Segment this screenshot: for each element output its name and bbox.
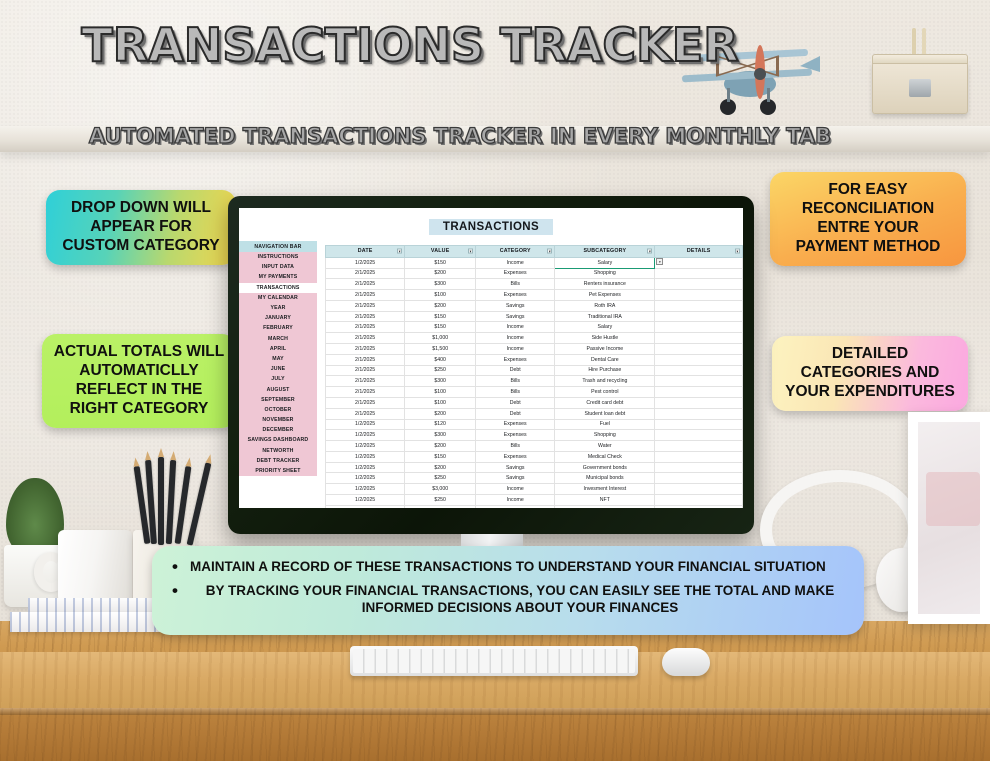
callout-detailed-categories: DETAILED CATEGORIES AND YOUR EXPENDITURE… xyxy=(772,336,968,411)
table-row[interactable]: 1/2/2025$150ExpensesMedical Check xyxy=(326,451,743,462)
cell-details[interactable] xyxy=(655,333,743,344)
cell-subcategory[interactable]: Roth IRA xyxy=(555,300,655,311)
cell-subcategory[interactable]: Municipal bonds xyxy=(555,473,655,484)
table-row[interactable]: 2/1/2025$250DebtHire Purchase xyxy=(326,365,743,376)
cell-category[interactable]: Income xyxy=(476,333,555,344)
cell-category[interactable]: Bills xyxy=(476,387,555,398)
table-row[interactable]: 1/2/2025$120ExpensesFuel xyxy=(326,419,743,430)
cell-date[interactable]: 2/1/2025 xyxy=(326,354,405,365)
table-row[interactable]: 2/1/2025$200SavingsRoth IRA xyxy=(326,300,743,311)
nav-item-priority-sheet[interactable]: PRIORITY SHEET xyxy=(239,466,317,476)
nav-item-savings-dashboard[interactable]: SAVINGS DASHBOARD xyxy=(239,435,317,445)
nav-item-transactions[interactable]: TRANSACTIONS xyxy=(239,283,317,293)
cell-subcategory[interactable]: Passive Income xyxy=(555,344,655,355)
cell-category[interactable]: Expenses xyxy=(476,268,555,279)
cell-date[interactable]: 2/1/2025 xyxy=(326,290,405,301)
cell-category[interactable]: Income xyxy=(476,494,555,505)
cell-subcategory[interactable]: Water xyxy=(555,441,655,452)
sheet-body: NAVIGATION BAR INSTRUCTIONSINPUT DATAMY … xyxy=(239,241,743,508)
cell-category[interactable]: Debt xyxy=(476,408,555,419)
navigation-bar-list[interactable]: INSTRUCTIONSINPUT DATAMY PAYMENTSTRANSAC… xyxy=(239,252,317,476)
table-row[interactable]: 2/1/2025$100BillsPest control xyxy=(326,387,743,398)
cell-details[interactable] xyxy=(655,279,743,290)
cell-subcategory[interactable]: Traditional IRA xyxy=(555,311,655,322)
cell-details[interactable] xyxy=(655,344,743,355)
cell-details[interactable] xyxy=(655,290,743,301)
nav-item-networth[interactable]: NETWORTH xyxy=(239,446,317,456)
nav-item-september[interactable]: SEPTEMBER xyxy=(239,395,317,405)
navigation-bar: NAVIGATION BAR INSTRUCTIONSINPUT DATAMY … xyxy=(239,241,317,508)
nav-item-april[interactable]: APRIL xyxy=(239,344,317,354)
cell-category[interactable]: Savings xyxy=(476,311,555,322)
cell-category[interactable]: Savings xyxy=(476,473,555,484)
cell-details[interactable] xyxy=(655,365,743,376)
cell-details[interactable] xyxy=(655,473,743,484)
nav-item-may[interactable]: MAY xyxy=(239,354,317,364)
table-row[interactable]: 1/2/2025$150IncomeSalary▾ xyxy=(326,257,743,268)
table-header-row: DATE ▾ VALUE ▾ CATEGORY ▾ xyxy=(326,246,743,258)
bullet-item: MAINTAIN A RECORD OF THESE TRANSACTIONS … xyxy=(166,559,850,575)
callout-actual-totals: ACTUAL TOTALS WILL AUTOMATICLLY REFLECT … xyxy=(42,334,236,428)
table-row[interactable]: 1/2/2025$250SavingsMunicipal bonds xyxy=(326,473,743,484)
table-row[interactable]: 2/1/2025$400ExpensesDental Care xyxy=(326,354,743,365)
cell-value[interactable]: $150 xyxy=(405,257,476,268)
cell-details[interactable] xyxy=(655,354,743,365)
nav-item-my-payments[interactable]: MY PAYMENTS xyxy=(239,272,317,282)
cell-date[interactable]: 1/2/2025 xyxy=(326,484,405,495)
dropdown-arrow-icon[interactable]: ▾ xyxy=(656,258,663,265)
nav-item-january[interactable]: JANUARY xyxy=(239,313,317,323)
column-header-category[interactable]: CATEGORY ▾ xyxy=(476,246,555,258)
cell-date[interactable]: 1/2/2025 xyxy=(326,419,405,430)
sheet-title-wrap: TRANSACTIONS xyxy=(239,208,743,241)
mouse[interactable] xyxy=(662,648,710,676)
cell-date[interactable]: 2/1/2025 xyxy=(326,376,405,387)
cell-value[interactable]: $250 xyxy=(405,473,476,484)
callout-bottom-bullets: MAINTAIN A RECORD OF THESE TRANSACTIONS … xyxy=(152,546,864,635)
column-header-value[interactable]: VALUE ▾ xyxy=(405,246,476,258)
cell-category[interactable]: Income xyxy=(476,505,555,508)
cell-value[interactable]: $150 xyxy=(405,311,476,322)
table-row[interactable]: 1/2/2025$200SavingsGovernment bonds xyxy=(326,462,743,473)
cell-category[interactable]: Expenses xyxy=(476,451,555,462)
cell-subcategory[interactable]: Dental Care xyxy=(555,354,655,365)
table-row[interactable]: 2/1/2025$100ExpensesPet Expenses xyxy=(326,290,743,301)
cell-value[interactable]: $150 xyxy=(405,322,476,333)
column-header-subcategory-label: SUBCATEGORY xyxy=(583,248,626,254)
nav-item-february[interactable]: FEBRUARY xyxy=(239,323,317,333)
nav-item-input-data[interactable]: INPUT DATA xyxy=(239,262,317,272)
cell-value[interactable]: $400 xyxy=(405,354,476,365)
cell-date[interactable]: 2/1/2025 xyxy=(326,365,405,376)
cell-subcategory[interactable]: Side Hustle xyxy=(555,333,655,344)
keyboard-keys xyxy=(353,649,635,673)
cell-subcategory[interactable]: Government bonds xyxy=(555,462,655,473)
cell-date[interactable]: 2/1/2025 xyxy=(326,408,405,419)
cell-value[interactable]: $200 xyxy=(405,268,476,279)
cell-date[interactable]: 1/2/2025 xyxy=(326,505,405,508)
cell-category[interactable]: Debt xyxy=(476,365,555,376)
pencil-icon xyxy=(158,457,164,545)
cell-subcategory[interactable]: Medical Check xyxy=(555,451,655,462)
cell-subcategory[interactable]: Capital gains xyxy=(555,505,655,508)
cell-subcategory[interactable]: NFT xyxy=(555,494,655,505)
table-row[interactable]: 1/2/2025$3,000IncomeInvesment Interest xyxy=(326,484,743,495)
table-row[interactable]: 2/1/2025$300BillsRenters insurance xyxy=(326,279,743,290)
cell-date[interactable]: 2/1/2025 xyxy=(326,300,405,311)
cell-details[interactable] xyxy=(655,484,743,495)
picture-frame-art xyxy=(918,422,980,614)
table-row[interactable]: 2/1/2025$150SavingsTraditional IRA xyxy=(326,311,743,322)
cell-subcategory[interactable]: Pest control xyxy=(555,387,655,398)
cell-value[interactable]: $100 xyxy=(405,397,476,408)
cell-value[interactable]: $300 xyxy=(405,430,476,441)
cell-details[interactable] xyxy=(655,494,743,505)
cell-details[interactable] xyxy=(655,408,743,419)
nav-item-debt-tracker[interactable]: DEBT TRACKER xyxy=(239,456,317,466)
cell-subcategory[interactable]: Trash and recycling xyxy=(555,376,655,387)
cell-value[interactable]: $100 xyxy=(405,290,476,301)
page-title: TRANSACTIONS TRACKER xyxy=(0,18,820,72)
cell-subcategory[interactable]: Shopping xyxy=(555,430,655,441)
cell-value[interactable]: $1,000 xyxy=(405,333,476,344)
table-row[interactable]: 2/1/2025$1,500IncomePassive Income xyxy=(326,344,743,355)
cell-value[interactable]: $250 xyxy=(405,365,476,376)
column-header-subcategory[interactable]: SUBCATEGORY ▾ xyxy=(555,246,655,258)
cell-subcategory[interactable]: Pet Expenses xyxy=(555,290,655,301)
cell-date[interactable]: 2/1/2025 xyxy=(326,333,405,344)
nav-item-july[interactable]: JULY xyxy=(239,374,317,384)
table-row[interactable]: 1/2/2025$250IncomeNFT xyxy=(326,494,743,505)
cell-category[interactable]: Savings xyxy=(476,462,555,473)
cell-details[interactable] xyxy=(655,441,743,452)
cell-category[interactable]: Expenses xyxy=(476,290,555,301)
cell-details[interactable] xyxy=(655,387,743,398)
cell-date[interactable]: 2/1/2025 xyxy=(326,311,405,322)
cell-value[interactable]: $400 xyxy=(405,505,476,508)
cell-value[interactable]: $200 xyxy=(405,408,476,419)
cell-date[interactable]: 2/1/2025 xyxy=(326,322,405,333)
spreadsheet-grid: DATE ▾ VALUE ▾ CATEGORY ▾ xyxy=(317,241,743,508)
cell-details[interactable] xyxy=(655,451,743,462)
keyboard[interactable] xyxy=(350,646,638,676)
cell-category[interactable]: Bills xyxy=(476,441,555,452)
picture-frame-shape xyxy=(926,472,980,526)
cell-category[interactable]: Income xyxy=(476,344,555,355)
cell-value[interactable]: $100 xyxy=(405,387,476,398)
cell-category[interactable]: Income xyxy=(476,257,555,268)
monitor-bezel: TRANSACTIONS NAVIGATION BAR INSTRUCTIONS… xyxy=(228,196,754,534)
navigation-bar-header: NAVIGATION BAR xyxy=(239,241,317,252)
wooden-box-lid xyxy=(872,54,968,64)
cell-subcategory[interactable]: Hire Purchase xyxy=(555,365,655,376)
table-row[interactable]: 2/1/2025$100DebtCredit card debt xyxy=(326,397,743,408)
cell-details[interactable] xyxy=(655,462,743,473)
table-row[interactable]: 2/1/2025$1,000IncomeSide Hustle xyxy=(326,333,743,344)
bottom-bullet-list: MAINTAIN A RECORD OF THESE TRANSACTIONS … xyxy=(166,559,850,616)
column-header-date[interactable]: DATE ▾ xyxy=(326,246,405,258)
cell-value[interactable]: $1,500 xyxy=(405,344,476,355)
cell-details[interactable] xyxy=(655,300,743,311)
cell-subcategory[interactable]: Fuel xyxy=(555,419,655,430)
filter-icon-category[interactable]: ▾ xyxy=(547,249,552,254)
nav-item-august[interactable]: AUGUST xyxy=(239,384,317,394)
cell-date[interactable]: 1/2/2025 xyxy=(326,430,405,441)
nav-item-november[interactable]: NOVEMBER xyxy=(239,415,317,425)
nav-item-my-calendar[interactable]: MY CALENDAR xyxy=(239,293,317,303)
cell-details[interactable] xyxy=(655,419,743,430)
cell-value[interactable]: $300 xyxy=(405,279,476,290)
nav-item-year[interactable]: YEAR xyxy=(239,303,317,313)
table-row[interactable]: 2/1/2025$150IncomeSalary xyxy=(326,322,743,333)
table-row[interactable]: 2/1/2025$200DebtStudent loan debt xyxy=(326,408,743,419)
cell-subcategory[interactable]: Renters insurance xyxy=(555,279,655,290)
cell-date[interactable]: 2/1/2025 xyxy=(326,387,405,398)
cell-date[interactable]: 2/1/2025 xyxy=(326,344,405,355)
nav-item-instructions[interactable]: INSTRUCTIONS xyxy=(239,252,317,262)
cell-date[interactable]: 1/2/2025 xyxy=(326,451,405,462)
cell-date[interactable]: 1/2/2025 xyxy=(326,473,405,484)
table-row[interactable]: 1/2/2025$400IncomeCapital gains xyxy=(326,505,743,508)
nav-item-december[interactable]: DECEMBER xyxy=(239,425,317,435)
column-header-details-label: DETAILS xyxy=(687,248,711,254)
cell-value[interactable]: $200 xyxy=(405,462,476,473)
cell-category[interactable]: Expenses xyxy=(476,419,555,430)
table-row[interactable]: 2/1/2025$300BillsTrash and recycling xyxy=(326,376,743,387)
filter-icon-value[interactable]: ▾ xyxy=(468,249,473,254)
filter-icon-details[interactable]: ▾ xyxy=(735,249,740,254)
cell-value[interactable]: $300 xyxy=(405,376,476,387)
cell-value[interactable]: $200 xyxy=(405,300,476,311)
cell-date[interactable]: 1/2/2025 xyxy=(326,257,405,268)
desk-edge xyxy=(0,708,990,715)
cell-details[interactable] xyxy=(655,397,743,408)
coffee-mug xyxy=(58,530,132,608)
cell-details[interactable] xyxy=(655,268,743,279)
monitor-screen: TRANSACTIONS NAVIGATION BAR INSTRUCTIONS… xyxy=(239,208,743,508)
column-header-details[interactable]: DETAILS ▾ xyxy=(655,246,743,258)
column-header-category-label: CATEGORY xyxy=(500,248,531,254)
cell-subcategory[interactable]: Invesment Interest xyxy=(555,484,655,495)
cell-date[interactable]: 2/1/2025 xyxy=(326,268,405,279)
cell-value[interactable]: $120 xyxy=(405,419,476,430)
cell-category[interactable]: Income xyxy=(476,484,555,495)
callout-reconciliation: FOR EASY RECONCILIATION ENTRE YOUR PAYME… xyxy=(770,172,966,266)
scene-root: TRANSACTIONS TRACKER AUTOMATED TRANSACTI… xyxy=(0,0,990,761)
page-subtitle: AUTOMATED TRANSACTIONS TRACKER IN EVERY … xyxy=(0,124,920,148)
transactions-table-body: 1/2/2025$150IncomeSalary▾2/1/2025$200Exp… xyxy=(326,257,743,508)
nav-item-october[interactable]: OCTOBER xyxy=(239,405,317,415)
nav-item-june[interactable]: JUNE xyxy=(239,364,317,374)
cell-subcategory[interactable]: Shopping xyxy=(555,268,655,279)
cell-date[interactable]: 1/2/2025 xyxy=(326,494,405,505)
cell-category[interactable]: Bills xyxy=(476,279,555,290)
cell-details[interactable] xyxy=(655,257,743,268)
cell-category[interactable]: Debt xyxy=(476,397,555,408)
cell-category[interactable]: Income xyxy=(476,322,555,333)
column-header-date-label: DATE xyxy=(358,248,373,254)
cell-details[interactable] xyxy=(655,311,743,322)
cell-date[interactable]: 1/2/2025 xyxy=(326,462,405,473)
cell-subcategory[interactable]: Salary xyxy=(555,322,655,333)
cell-value[interactable]: $150 xyxy=(405,451,476,462)
cell-category[interactable]: Expenses xyxy=(476,354,555,365)
cell-date[interactable]: 2/1/2025 xyxy=(326,279,405,290)
cell-details[interactable] xyxy=(655,322,743,333)
cell-category[interactable]: Expenses xyxy=(476,430,555,441)
picture-frame xyxy=(908,412,990,624)
cell-details[interactable] xyxy=(655,376,743,387)
cell-value[interactable]: $250 xyxy=(405,494,476,505)
table-row[interactable]: 1/2/2025$300ExpensesShopping xyxy=(326,430,743,441)
cell-details[interactable] xyxy=(655,430,743,441)
cell-date[interactable]: 1/2/2025 xyxy=(326,441,405,452)
table-row[interactable]: 1/2/2025$200BillsWater xyxy=(326,441,743,452)
cell-value[interactable]: $200 xyxy=(405,441,476,452)
cell-subcategory[interactable]: Credit card debt xyxy=(555,397,655,408)
table-row[interactable]: 2/1/2025$200ExpensesShopping xyxy=(326,268,743,279)
column-header-value-label: VALUE xyxy=(431,248,450,254)
filter-icon-subcategory[interactable]: ▾ xyxy=(647,249,652,254)
bullet-item: BY TRACKING YOUR FINANCIAL TRANSACTIONS,… xyxy=(166,583,850,616)
cell-subcategory[interactable]: Student loan debt xyxy=(555,408,655,419)
sheet-title: TRANSACTIONS xyxy=(429,219,553,235)
cell-details[interactable] xyxy=(655,505,743,508)
cell-value[interactable]: $3,000 xyxy=(405,484,476,495)
cell-category[interactable]: Bills xyxy=(476,376,555,387)
transactions-table: DATE ▾ VALUE ▾ CATEGORY ▾ xyxy=(325,245,743,508)
wooden-box xyxy=(872,62,968,114)
cell-category[interactable]: Savings xyxy=(476,300,555,311)
nav-item-march[interactable]: MARCH xyxy=(239,334,317,344)
cell-date[interactable]: 2/1/2025 xyxy=(326,397,405,408)
cell-subcategory[interactable]: Salary▾ xyxy=(555,257,655,268)
callout-dropdown: DROP DOWN WILL APPEAR FOR CUSTOM CATEGOR… xyxy=(46,190,236,265)
filter-icon-date[interactable]: ▾ xyxy=(397,249,402,254)
